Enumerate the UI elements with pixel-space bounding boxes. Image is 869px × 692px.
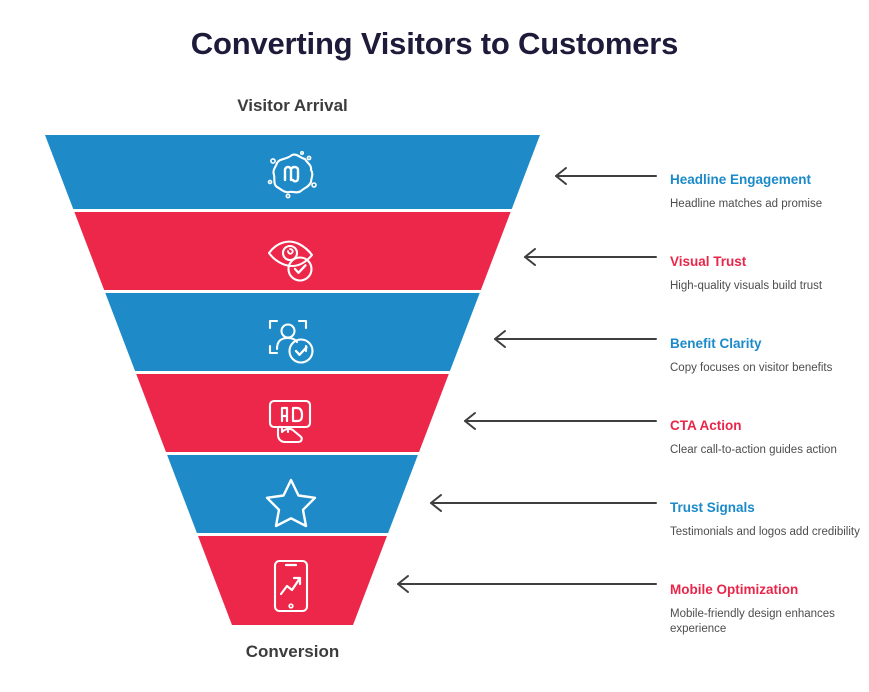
funnel-bottom-label-text: Conversion	[246, 642, 340, 662]
stage-item-1[interactable]: Headline Engagement Headline matches ad …	[670, 172, 866, 212]
stage-title-6: Mobile Optimization	[670, 582, 866, 598]
stage-title-5: Trust Signals	[670, 500, 866, 516]
stage-item-2[interactable]: Visual Trust High-quality visuals build …	[670, 254, 866, 294]
stage-title-1: Headline Engagement	[670, 172, 866, 188]
stage-item-4[interactable]: CTA Action Clear call-to-action guides a…	[670, 418, 866, 458]
stage-description-6: Mobile-friendly design enhances experien…	[670, 607, 866, 637]
funnel-bottom-label: Conversion	[0, 642, 869, 662]
stage-description-5: Testimonials and logos add credibility	[670, 525, 866, 540]
stage-item-5[interactable]: Trust Signals Testimonials and logos add…	[670, 500, 866, 540]
stage-description-1: Headline matches ad promise	[670, 197, 866, 212]
stage-title-3: Benefit Clarity	[670, 336, 866, 352]
infographic-canvas: Converting Visitors to Customers Visitor…	[0, 0, 869, 692]
stage-item-6[interactable]: Mobile Optimization Mobile-friendly desi…	[670, 582, 866, 637]
stage-label-list: Headline Engagement Headline matches ad …	[0, 0, 869, 692]
stage-title-2: Visual Trust	[670, 254, 866, 270]
stage-description-2: High-quality visuals build trust	[670, 279, 866, 294]
stage-title-4: CTA Action	[670, 418, 866, 434]
stage-description-3: Copy focuses on visitor benefits	[670, 361, 866, 376]
stage-description-4: Clear call-to-action guides action	[670, 443, 866, 458]
stage-item-3[interactable]: Benefit Clarity Copy focuses on visitor …	[670, 336, 866, 376]
